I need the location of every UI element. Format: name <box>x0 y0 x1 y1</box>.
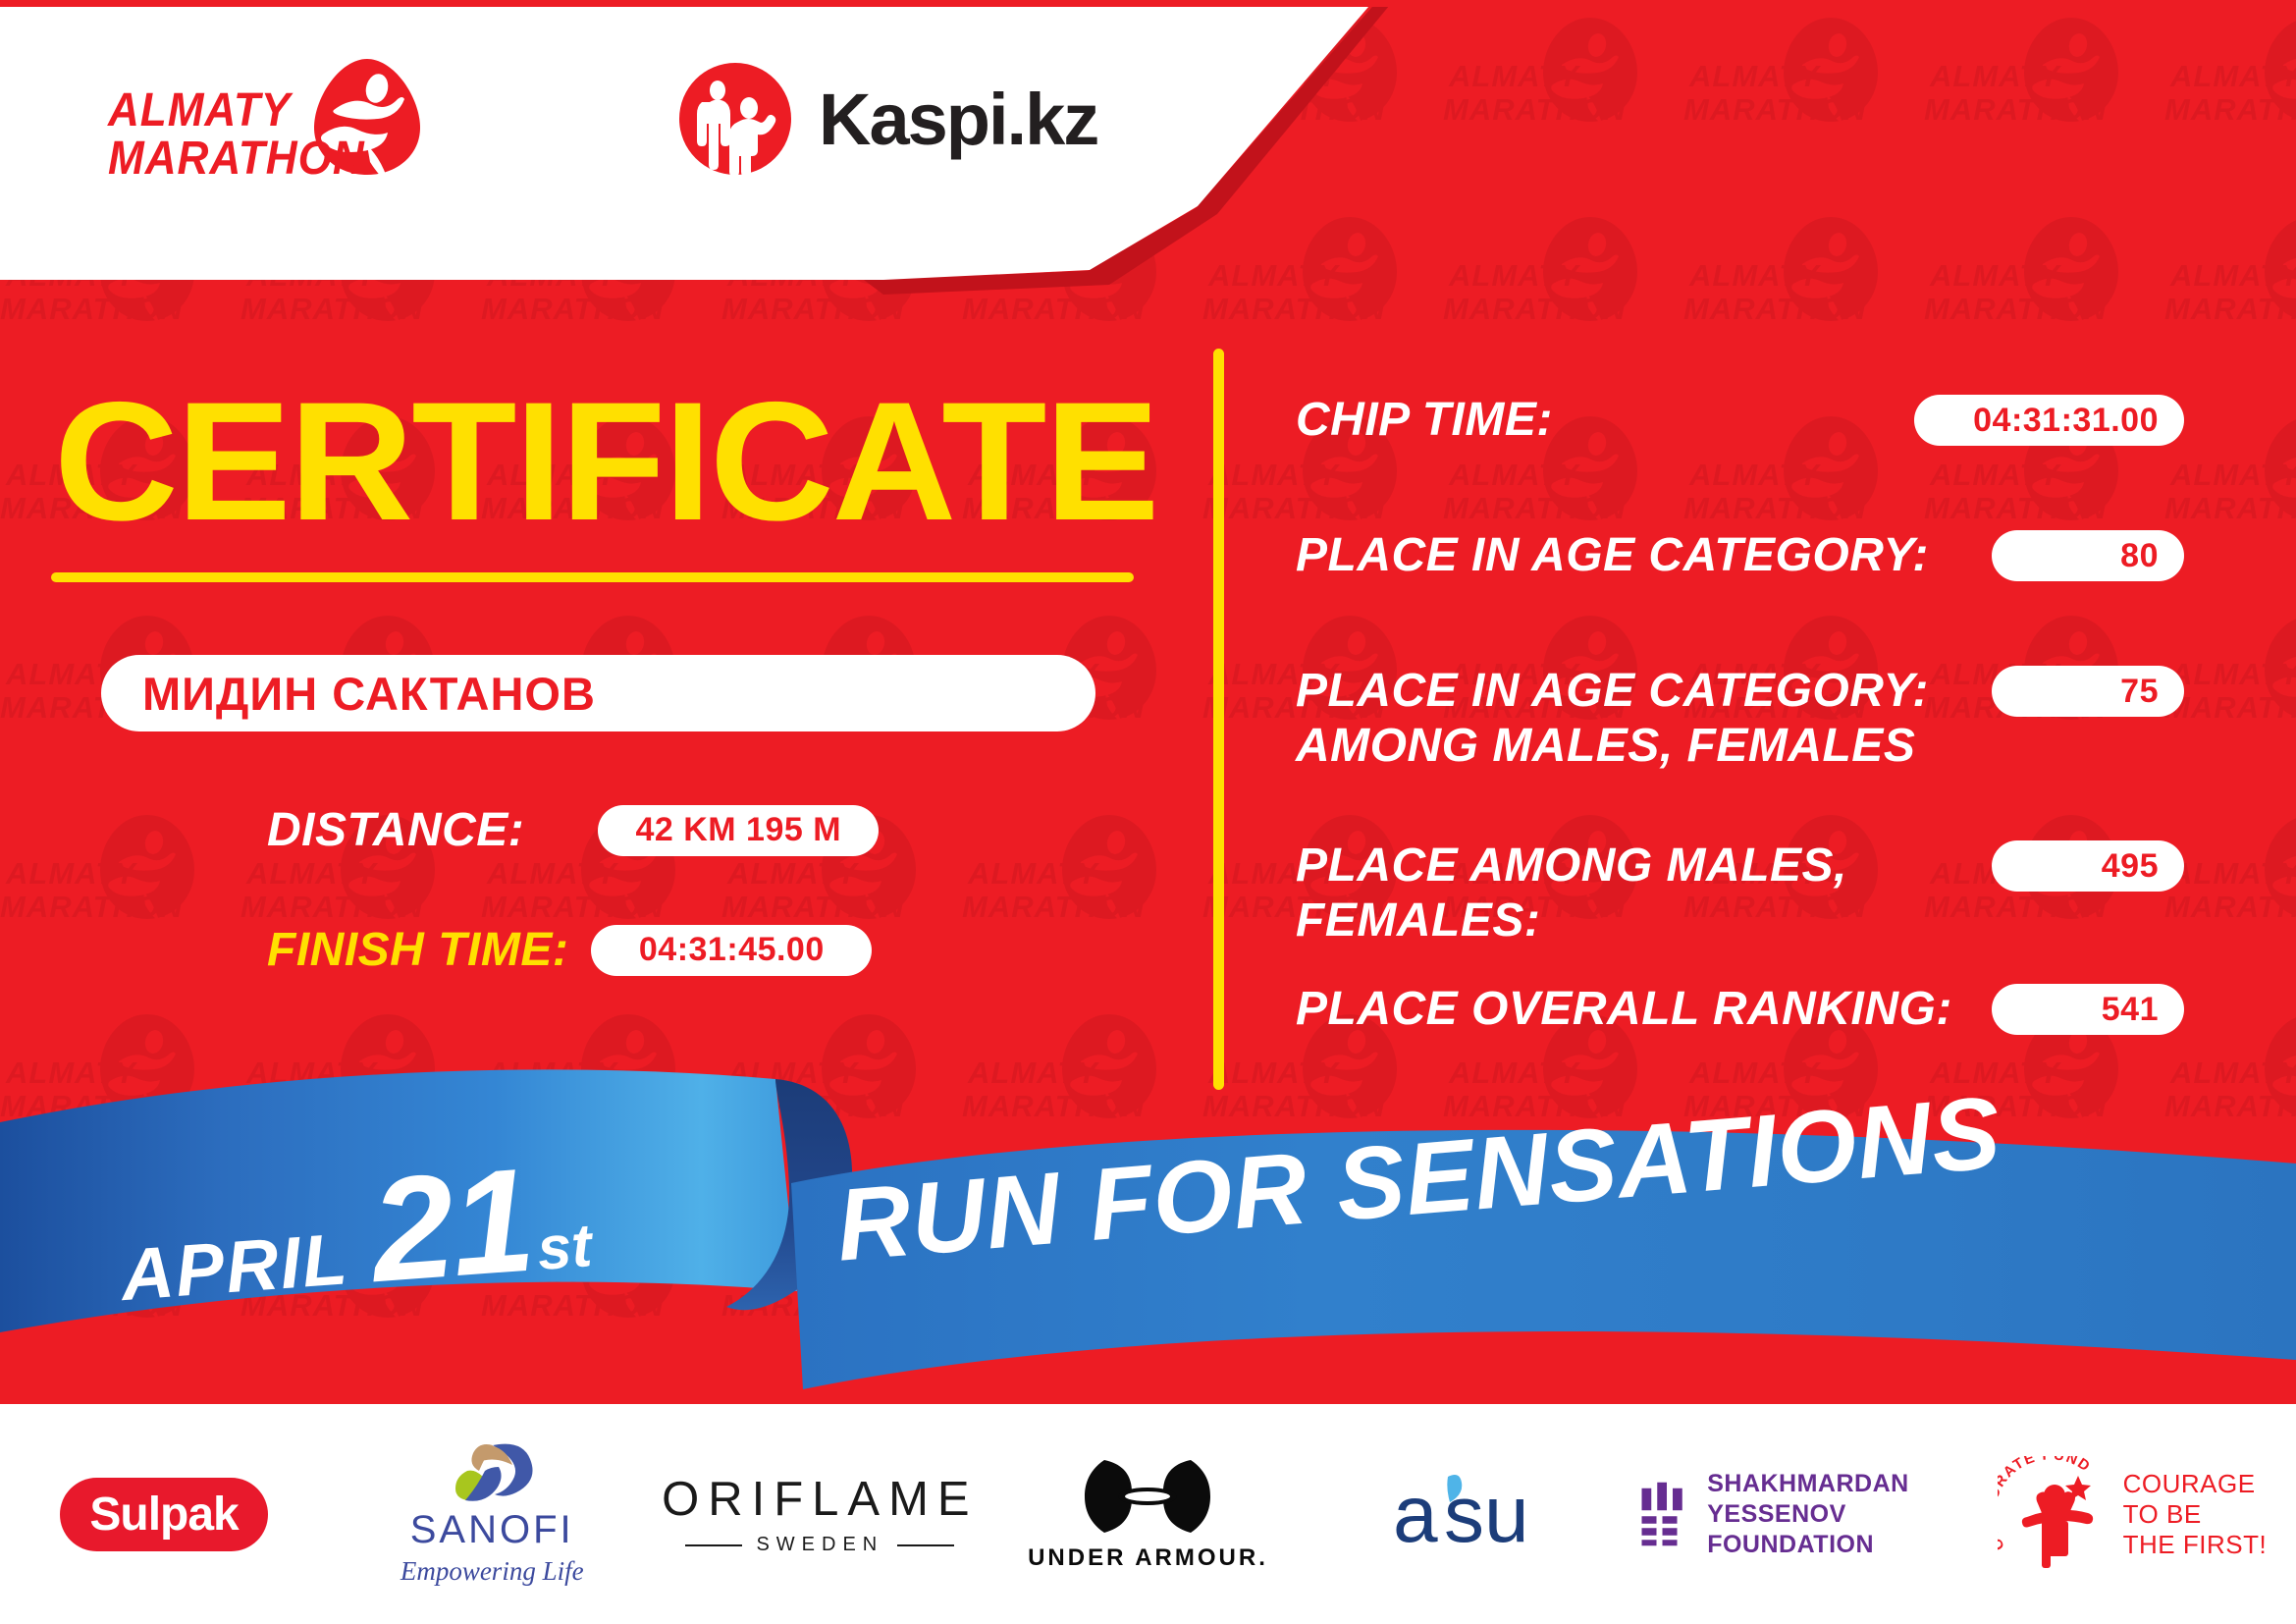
sponsor-asu: a su <box>1312 1426 1640 1602</box>
distance-value-pill: 42 KM 195 M <box>598 805 879 856</box>
chip-time-label: CHIP TIME: <box>1296 393 1553 448</box>
event-day-ordinal: st <box>535 1211 594 1284</box>
sanofi-logo: SANOFI Empowering Life <box>400 1441 584 1587</box>
logo-line-almaty: ALMATY <box>108 86 365 135</box>
sulpak-logo: Sulpak <box>60 1478 268 1551</box>
oriflame-country: SWEDEN <box>756 1534 883 1556</box>
label-line-2: AMONG MALES, FEMALES <box>1296 719 1929 774</box>
courage-child-icon: CORPORATE FUND <box>1998 1456 2113 1572</box>
oriflame-wordmark: ORIFLAME <box>662 1472 978 1527</box>
distance-label: DISTANCE: <box>267 803 524 857</box>
place-among-males-females-value-pill: 495 <box>1992 840 2184 892</box>
yessenov-foundation-logo: SHAKHMARDAN YESSENOV FOUNDATION <box>1640 1469 1968 1560</box>
place-age-category-among-label: PLACE IN AGE CATEGORY: AMONG MALES, FEMA… <box>1296 664 1929 774</box>
corporate-fund-logo: CORPORATE FUND COURAGE TO BE THE FIRST! <box>1998 1456 2268 1572</box>
sulpak-wordmark: Sulpak <box>89 1488 238 1542</box>
place-overall-ranking-label: PLACE OVERALL RANKING: <box>1296 982 1952 1037</box>
sponsor-oriflame: ORIFLAME SWEDEN <box>656 1426 984 1602</box>
chip-time-row: CHIP TIME: 04:31:31.00 <box>1296 393 2184 448</box>
kaspi-wordmark: Kaspi.kz <box>819 78 1097 161</box>
sanofi-tagline: Empowering Life <box>400 1556 584 1587</box>
place-age-category-value: 80 <box>2120 537 2159 575</box>
kaspi-logo: Kaspi.kz <box>677 61 1097 177</box>
place-age-category-among-value-pill: 75 <box>1992 666 2184 717</box>
place-overall-ranking-value: 541 <box>2102 991 2159 1029</box>
finish-time-value: 04:31:45.00 <box>639 931 825 969</box>
place-overall-ranking-value-pill: 541 <box>1992 984 2184 1035</box>
finish-time-row: FINISH TIME: 04:31:45.00 <box>267 923 872 977</box>
event-day: 21 <box>366 1135 538 1316</box>
asu-logo: a su <box>1393 1469 1560 1559</box>
column-divider <box>1213 349 1224 1090</box>
courage-line-1: COURAGE <box>2123 1469 2268 1499</box>
place-age-category-among-value: 75 <box>2120 673 2159 711</box>
chip-time-value-pill: 04:31:31.00 <box>1914 395 2184 446</box>
place-overall-ranking-row: PLACE OVERALL RANKING: 541 <box>1296 982 2184 1037</box>
label-line-1: PLACE AMONG MALES, <box>1296 839 1847 893</box>
sponsor-sanofi: SANOFI Empowering Life <box>328 1426 656 1602</box>
chip-time-value: 04:31:31.00 <box>1973 402 2159 440</box>
event-date: APRIL 21 st <box>113 1130 595 1334</box>
title-underline <box>51 572 1134 582</box>
label-line-2: FEMALES: <box>1296 893 1847 948</box>
finish-time-value-pill: 04:31:45.00 <box>591 925 872 976</box>
svg-text:a: a <box>1393 1470 1438 1559</box>
place-age-category-value-pill: 80 <box>1992 530 2184 581</box>
yessenov-bars-icon <box>1640 1472 1686 1556</box>
asu-mark-icon: a su <box>1393 1469 1560 1559</box>
courage-line-3: THE FIRST! <box>2123 1530 2268 1560</box>
under-armour-logo: UNDER ARMOUR. <box>1028 1456 1268 1572</box>
oriflame-logo: ORIFLAME SWEDEN <box>662 1472 978 1556</box>
finish-time-label: FINISH TIME: <box>267 923 568 977</box>
place-age-category-row: PLACE IN AGE CATEGORY: 80 <box>1296 528 2184 583</box>
logo-line-marathon: MARATHON <box>108 135 365 183</box>
sponsor-under-armour: UNDER ARMOUR. <box>984 1426 1311 1602</box>
distance-value: 42 KM 195 M <box>635 811 841 849</box>
oriflame-rule-left <box>685 1544 742 1546</box>
place-among-males-females-label: PLACE AMONG MALES, FEMALES: <box>1296 839 1847 948</box>
courage-line-2: TO BE <box>2123 1499 2268 1530</box>
header-top-rule <box>0 0 1610 7</box>
distance-row: DISTANCE: 42 KM 195 M <box>267 803 879 857</box>
athlete-name-field: МИДИН САКТАНОВ <box>101 655 1095 731</box>
almaty-marathon-logo: ALMATY MARATHON <box>108 57 432 185</box>
place-among-males-females-value: 495 <box>2102 847 2159 886</box>
place-among-males-females-row: PLACE AMONG MALES, FEMALES: 495 <box>1296 839 2184 948</box>
label-line-1: PLACE IN AGE CATEGORY: <box>1296 664 1929 719</box>
place-age-category-label: PLACE IN AGE CATEGORY: <box>1296 528 1929 583</box>
sponsor-bar: Sulpak SANOFI Empowering Life ORIFLAME <box>0 1404 2296 1624</box>
courage-wordmark: COURAGE TO BE THE FIRST! <box>2123 1469 2268 1560</box>
foundation-line-1: SHAKHMARDAN YESSENOV <box>1707 1469 1968 1530</box>
sponsor-corporate-fund: CORPORATE FUND COURAGE TO BE THE FIRST! <box>1968 1426 2296 1602</box>
under-armour-wordmark: UNDER ARMOUR. <box>1028 1544 1268 1572</box>
almaty-marathon-wordmark: ALMATY MARATHON <box>108 86 365 183</box>
event-month: APRIL <box>118 1217 351 1317</box>
sponsor-yessenov-foundation: SHAKHMARDAN YESSENOV FOUNDATION <box>1640 1426 1968 1602</box>
sanofi-wordmark: SANOFI <box>410 1508 574 1552</box>
oriflame-rule-right <box>897 1544 954 1546</box>
foundation-line-2: FOUNDATION <box>1707 1530 1968 1560</box>
oriflame-subline: SWEDEN <box>685 1534 954 1556</box>
yessenov-foundation-wordmark: SHAKHMARDAN YESSENOV FOUNDATION <box>1707 1469 1968 1560</box>
sponsor-sulpak: Sulpak <box>0 1426 328 1602</box>
sanofi-mark-icon <box>438 1441 546 1504</box>
place-age-category-among-row: PLACE IN AGE CATEGORY: AMONG MALES, FEMA… <box>1296 664 2184 774</box>
certificate-page: ALMATY MARATHON ALMATY MARATHON <box>0 0 2296 1624</box>
athlete-name-value: МИДИН САКТАНОВ <box>142 667 596 721</box>
page-title: CERTIFICATE <box>54 378 1157 545</box>
under-armour-mark-icon <box>1083 1456 1212 1539</box>
kaspi-people-icon <box>677 61 793 177</box>
